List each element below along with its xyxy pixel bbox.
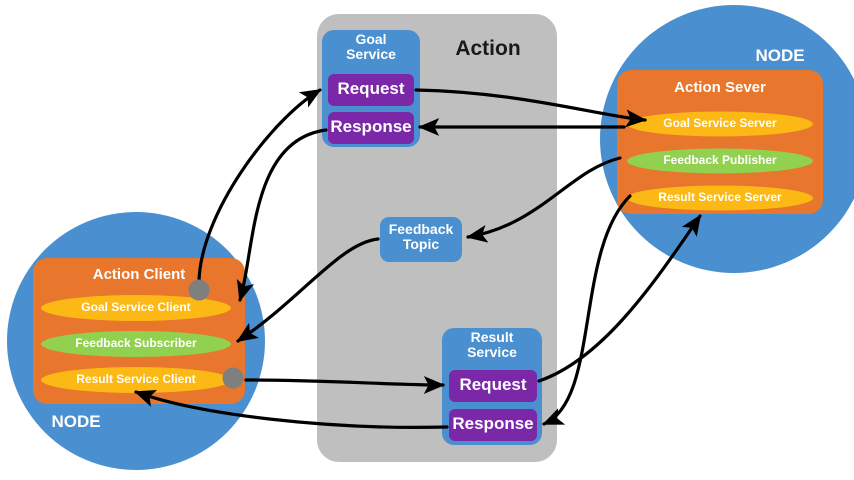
goal-response-box — [328, 112, 414, 144]
result-request-box — [449, 370, 537, 402]
diagram-shapes — [0, 0, 854, 480]
feedback-topic-panel — [380, 217, 462, 262]
feedback-subscriber-ellipse — [41, 331, 231, 357]
result-service-client-ellipse — [41, 367, 231, 393]
goal-request-box — [328, 74, 414, 106]
result-service-server-ellipse — [627, 186, 813, 211]
client-goal-connector-dot — [189, 280, 210, 301]
result-response-box — [449, 409, 537, 441]
feedback-publisher-ellipse — [627, 149, 813, 174]
client-result-connector-dot — [223, 368, 244, 389]
diagram-canvas: Action Goal Service Request Response Fee… — [0, 0, 854, 480]
goal-service-server-ellipse — [627, 112, 813, 137]
